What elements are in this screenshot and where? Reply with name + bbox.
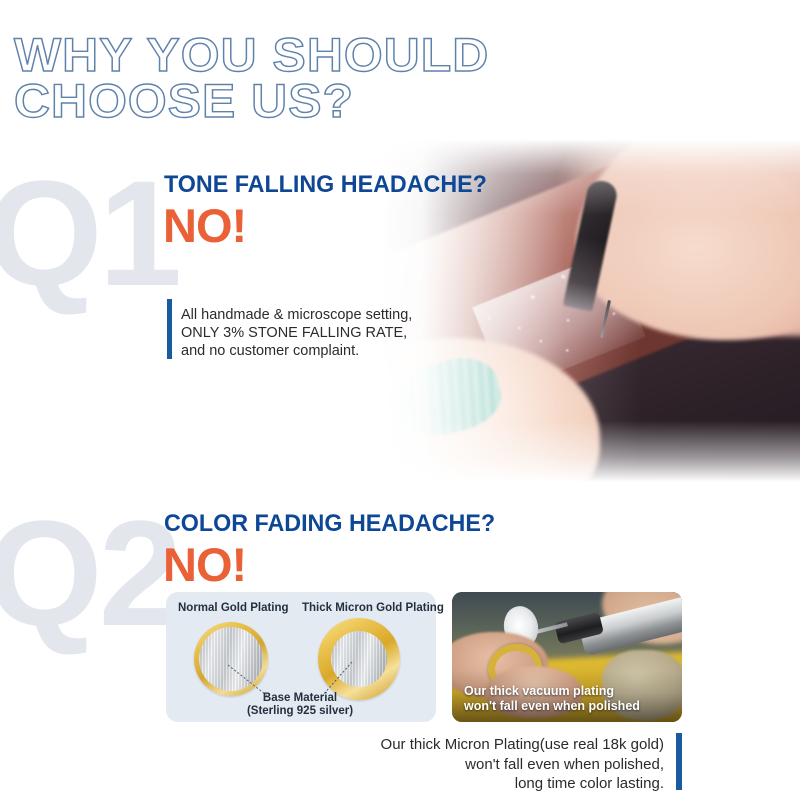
photo2-caption: Our thick vacuum plating won't fall even… <box>464 684 640 714</box>
photo2-caption-line-2: won't fall even when polished <box>464 699 640 714</box>
section-watermark-q1: Q1 <box>0 158 178 308</box>
section-title-q1: TONE FALLING HEADACHE? <box>164 172 487 198</box>
page-title-line-2: CHOOSE US? <box>14 78 800 124</box>
ring-polishing-photo: Our thick vacuum plating won't fall even… <box>452 592 682 722</box>
base-material-label-line-1: Base Material <box>240 692 360 706</box>
bottom-statement-line-3: long time color lasting. <box>324 774 664 794</box>
quote-line-1: All handmade & microscope setting, <box>181 306 412 325</box>
section-title-q2: COLOR FADING HEADACHE? <box>164 511 495 537</box>
page-title: WHY YOU SHOULD CHOOSE US? <box>14 32 774 124</box>
quote-line-3: and no customer complaint. <box>181 342 359 361</box>
quote-line-2-highlight: ONLY 3% STONE FALLING RATE, <box>181 324 407 343</box>
plating-comparison-diagram: Normal Gold Plating Thick Micron Gold Pl… <box>166 592 436 722</box>
section-answer-q2: NO! <box>163 541 246 588</box>
bottom-statement: Our thick Micron Plating(use real 18k go… <box>324 735 664 794</box>
page-title-line-1: WHY YOU SHOULD <box>14 32 800 78</box>
bottom-statement-line-1: Our thick Micron Plating(use real 18k go… <box>324 735 664 755</box>
quote-accent-bar-q1 <box>167 299 172 359</box>
bottom-statement-line-2: won't fall even when polished, <box>324 755 664 775</box>
infographic-page: WHY YOU SHOULD CHOOSE US? Q1 TONE FALLIN… <box>0 0 800 800</box>
section-answer-q1: NO! <box>163 202 246 249</box>
base-material-label-line-2: (Sterling 925 silver) <box>228 705 372 719</box>
photo2-caption-line-1: Our thick vacuum plating <box>464 684 640 699</box>
section-watermark-q2: Q2 <box>0 498 178 648</box>
bottom-accent-bar <box>676 733 682 790</box>
